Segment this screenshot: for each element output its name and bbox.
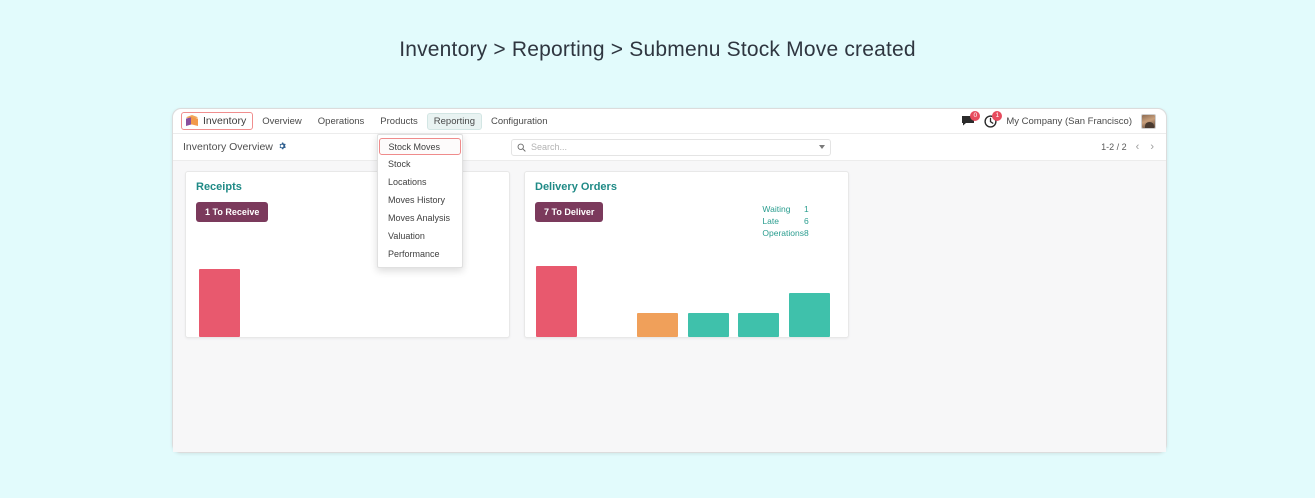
menu-item-operations[interactable]: Operations	[311, 113, 371, 130]
pager-prev-button[interactable]: ‹	[1134, 142, 1142, 153]
messages-button[interactable]: 0	[961, 115, 975, 127]
dropdown-item-locations[interactable]: Locations	[378, 173, 462, 191]
chart-bar	[738, 313, 779, 337]
search-input[interactable]: Search...	[531, 142, 814, 152]
card-body-delivery-orders: 7 To Deliver Waiting 1 Late 6 Operations…	[535, 202, 838, 238]
dropdown-item-moves-analysis[interactable]: Moves Analysis	[378, 209, 462, 227]
pager: 1-2 / 2 ‹ ›	[1101, 142, 1156, 153]
dropdown-item-stock-moves[interactable]: Stock Moves	[379, 138, 461, 155]
stat-value-operations: 8	[804, 228, 832, 238]
menubar-right-cluster: 0 1 My Company (San Francisco)	[961, 114, 1160, 129]
stat-label-waiting[interactable]: Waiting	[762, 204, 804, 214]
bar-slot-empty	[586, 252, 630, 337]
bar-slot	[535, 252, 579, 337]
chart-bar	[199, 269, 240, 337]
page-title: Inventory > Reporting > Submenu Stock Mo…	[0, 0, 1315, 62]
chevron-down-icon[interactable]	[819, 145, 825, 149]
chart-bar	[688, 313, 729, 337]
chart-bar	[536, 266, 577, 337]
stat-label-late[interactable]: Late	[762, 216, 804, 226]
kanban-card-delivery-orders[interactable]: Delivery Orders 7 To Deliver Waiting 1 L…	[524, 171, 849, 338]
menu-item-products[interactable]: Products	[373, 113, 425, 130]
delivery-stats: Waiting 1 Late 6 Operations 8	[762, 202, 838, 238]
bar-slot	[788, 252, 832, 337]
search-bar[interactable]: Search...	[511, 139, 831, 156]
app-brand-inventory[interactable]: Inventory	[181, 112, 253, 130]
bar-slot	[737, 252, 781, 337]
breadcrumb-label: Inventory Overview	[183, 141, 273, 153]
dropdown-item-valuation[interactable]: Valuation	[378, 227, 462, 245]
pager-next-button[interactable]: ›	[1148, 142, 1156, 153]
gear-icon[interactable]	[278, 141, 286, 153]
app-window: Inventory Overview Operations Products R…	[172, 108, 1167, 453]
breadcrumb: Inventory Overview	[183, 141, 286, 153]
activities-button[interactable]: 1	[984, 115, 997, 128]
kanban-board: Receipts 1 To Receive Delivery Orders 7 …	[173, 161, 1166, 452]
stat-value-late: 6	[804, 216, 832, 226]
messages-badge: 0	[970, 111, 980, 121]
search-icon	[517, 143, 526, 152]
menu-item-overview[interactable]: Overview	[255, 113, 309, 130]
stat-label-operations[interactable]: Operations	[762, 228, 804, 238]
inventory-cube-icon	[186, 115, 198, 127]
pager-count: 1-2 / 2	[1101, 142, 1127, 152]
dropdown-item-performance[interactable]: Performance	[378, 245, 462, 263]
top-menu-bar: Inventory Overview Operations Products R…	[173, 109, 1166, 134]
bar-slot	[687, 252, 731, 337]
chart-bar	[637, 313, 678, 337]
bar-slot	[636, 252, 680, 337]
dropdown-item-stock[interactable]: Stock	[378, 155, 462, 173]
avatar[interactable]	[1141, 114, 1156, 129]
to-deliver-button[interactable]: 7 To Deliver	[535, 202, 603, 222]
to-receive-button[interactable]: 1 To Receive	[196, 202, 268, 222]
activities-badge: 1	[992, 111, 1002, 121]
menu-item-configuration[interactable]: Configuration	[484, 113, 555, 130]
control-panel: Inventory Overview Search... 1-2 / 2 ‹ ›	[173, 134, 1166, 161]
chart-bar	[789, 293, 830, 337]
dropdown-item-moves-history[interactable]: Moves History	[378, 191, 462, 209]
company-switcher[interactable]: My Company (San Francisco)	[1006, 116, 1132, 127]
card-title-delivery-orders: Delivery Orders	[535, 181, 838, 193]
menu-item-reporting[interactable]: Reporting	[427, 113, 482, 130]
reporting-dropdown-menu: Stock Moves Stock Locations Moves Histor…	[377, 134, 463, 268]
stat-value-waiting: 1	[804, 204, 832, 214]
bar-slot	[196, 252, 242, 337]
delivery-orders-bar-chart	[535, 252, 838, 337]
app-brand-label: Inventory	[203, 115, 246, 127]
